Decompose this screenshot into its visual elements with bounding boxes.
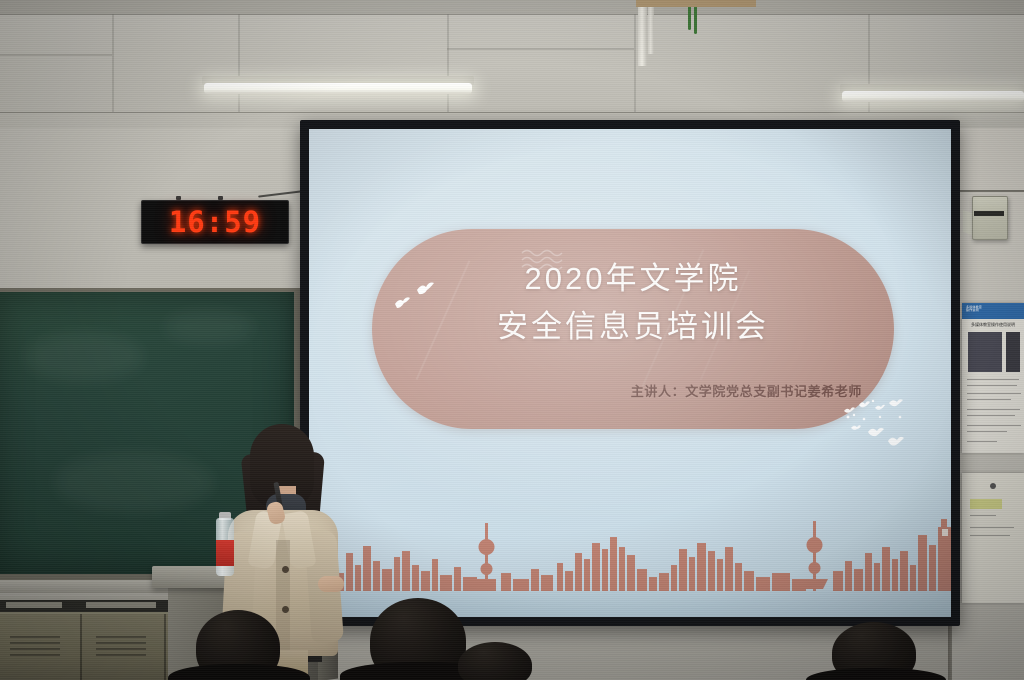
poster-title-text: 多媒体教室操作使用说明 [962, 322, 1024, 328]
clock-time-display: 16:59 [169, 205, 261, 239]
bird-flock-icon [840, 397, 926, 461]
audience-head [458, 642, 532, 680]
ceiling-duct [636, 0, 756, 7]
ceiling-panel-edge [0, 54, 112, 56]
ceiling-beam [0, 0, 1024, 14]
cabinet-handle [6, 602, 62, 608]
ceiling-panel-edge [447, 48, 634, 50]
wall-mounted-speaker [972, 196, 1008, 240]
ceiling-seam [0, 14, 1024, 15]
projection-screen: 2020年文学院 安全信息员培训会 主讲人：文学院党总支副书记姜希老师 [309, 129, 951, 617]
ceiling-tube-light [204, 83, 472, 94]
bottle-label [216, 540, 234, 566]
ceiling-upper-wall [0, 0, 1024, 128]
slide-title-card: 2020年文学院 安全信息员培训会 主讲人：文学院党总支副书记姜希老师 [372, 229, 894, 429]
city-skyline-graphic [309, 513, 951, 591]
wall-rail [955, 190, 1024, 192]
ceiling-tube-light [842, 91, 1024, 102]
led-wall-clock: 16:59 [141, 200, 289, 244]
slide-title-line1: 2020年文学院 [372, 253, 894, 298]
slide-title-line2: 安全信息员培训会 [372, 301, 894, 346]
presenter-hand-on-podium [318, 576, 344, 592]
speaker-slot [974, 211, 1004, 216]
ceiling-panel-edge [238, 14, 240, 112]
ceiling-panel-edge [634, 14, 636, 112]
ceiling-panel-edge [447, 14, 449, 112]
ceiling-seam [0, 112, 1024, 113]
ceiling-panel-edge [112, 14, 114, 112]
cabinet-handle [86, 602, 156, 608]
instruction-poster: 多媒体教室操作说明 多媒体教室操作使用说明 [962, 303, 1024, 453]
secondary-poster [962, 473, 1024, 603]
slide-subtitle: 主讲人：文学院党总支副书记姜希老师 [631, 381, 862, 400]
ceiling-pipe [648, 0, 654, 54]
ceiling-pipe [638, 0, 647, 66]
classroom-photo: 16:59 多媒体教室操作说明 多媒体教室操作使用说明 [0, 0, 1024, 680]
